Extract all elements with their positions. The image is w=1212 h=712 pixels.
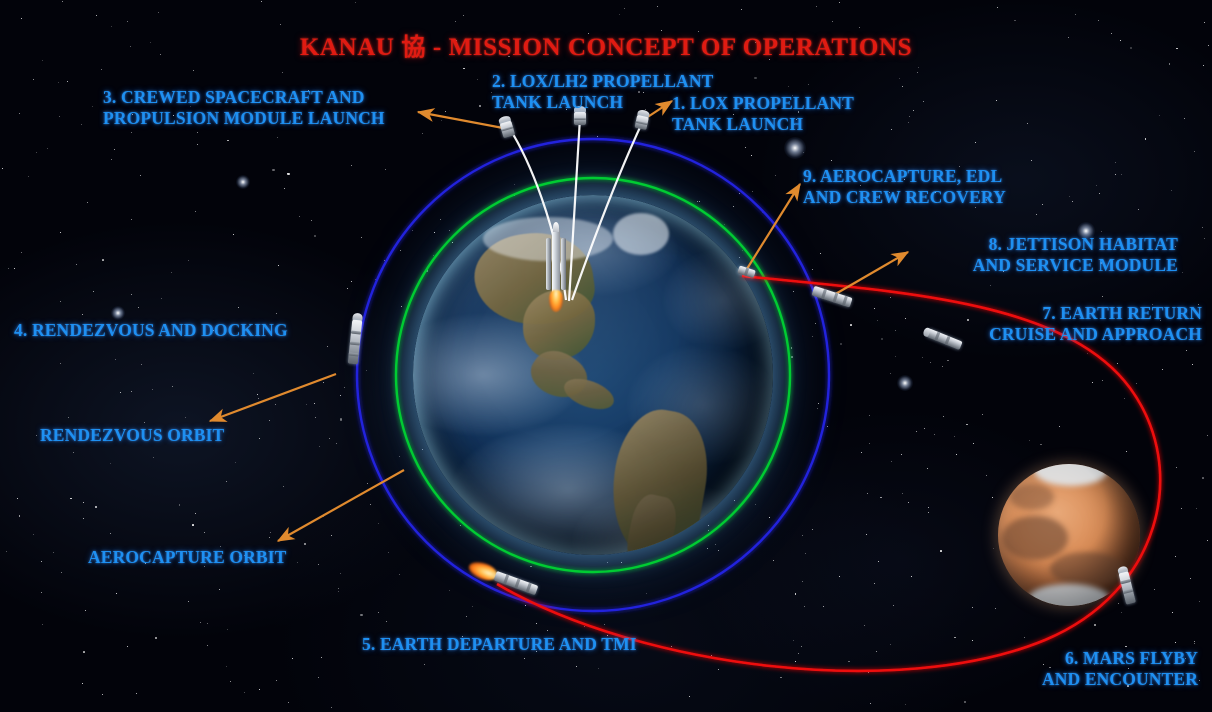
label-step-1: 1. LOX PROPELLANT TANK LAUNCH	[672, 93, 854, 134]
label-step-5: 5. EARTH DEPARTURE AND TMI	[362, 634, 637, 655]
pointer-aerocapture-orbit	[278, 470, 404, 541]
pointer-rendezvous-orbit	[210, 374, 336, 421]
label-step-3-line1: 3. CREWED SPACECRAFT AND	[103, 87, 385, 108]
pointer-step-3	[418, 112, 503, 128]
label-step-7-line1: 7. EARTH RETURN	[989, 303, 1202, 324]
title-suffix: - MISSION CONCEPT OF OPERATIONS	[426, 34, 912, 61]
label-step-3-line2: PROPULSION MODULE LAUNCH	[103, 108, 385, 129]
label-aerocapture-orbit: AEROCAPTURE ORBIT	[88, 547, 286, 568]
launch-trajectories	[508, 118, 642, 301]
page-title: KANAU 協 - MISSION CONCEPT OF OPERATIONS	[0, 27, 1212, 62]
label-step-5-text: 5. EARTH DEPARTURE AND TMI	[362, 634, 637, 655]
rendezvous-orbit-path	[357, 139, 829, 611]
label-step-6-line2: AND ENCOUNTER	[1042, 669, 1198, 690]
label-step-9: 9. AEROCAPTURE, EDL AND CREW RECOVERY	[803, 166, 1006, 207]
pointer-step-9	[745, 184, 800, 272]
aerocapture-orbit-path	[396, 178, 790, 572]
label-step-7: 7. EARTH RETURN CRUISE AND APPROACH	[989, 303, 1202, 344]
label-step-8-line1: 8. JETTISON HABITAT	[973, 234, 1178, 255]
title-kanji: 協	[401, 33, 426, 61]
label-step-2-line1: 2. LOX/LH2 PROPELLANT	[492, 71, 713, 92]
label-step-8-line2: AND SERVICE MODULE	[973, 255, 1178, 276]
label-step-3: 3. CREWED SPACECRAFT AND PROPULSION MODU…	[103, 87, 385, 128]
mission-concept-diagram: KANAU 協 - MISSION CONCEPT OF OPERATIONS …	[0, 0, 1212, 712]
label-step-8: 8. JETTISON HABITAT AND SERVICE MODULE	[973, 234, 1178, 275]
label-step-1-line2: TANK LAUNCH	[672, 114, 854, 135]
label-step-6-line1: 6. MARS FLYBY	[1042, 648, 1198, 669]
label-step-4-line1: 4. RENDEZVOUS AND DOCKING	[14, 320, 288, 341]
label-rendezvous-orbit: RENDEZVOUS ORBIT	[40, 425, 224, 446]
label-aerocapture-orbit-text: AEROCAPTURE ORBIT	[88, 547, 286, 568]
label-step-6: 6. MARS FLYBY AND ENCOUNTER	[1042, 648, 1198, 689]
title-prefix: KANAU	[300, 34, 402, 61]
label-step-4: 4. RENDEZVOUS AND DOCKING	[14, 320, 288, 341]
label-rendezvous-orbit-text: RENDEZVOUS ORBIT	[40, 425, 224, 446]
label-step-9-line2: AND CREW RECOVERY	[803, 187, 1006, 208]
label-step-1-line1: 1. LOX PROPELLANT	[672, 93, 854, 114]
label-step-7-line2: CRUISE AND APPROACH	[989, 324, 1202, 345]
launch-vehicle	[545, 222, 567, 310]
label-step-9-line1: 9. AEROCAPTURE, EDL	[803, 166, 1006, 187]
